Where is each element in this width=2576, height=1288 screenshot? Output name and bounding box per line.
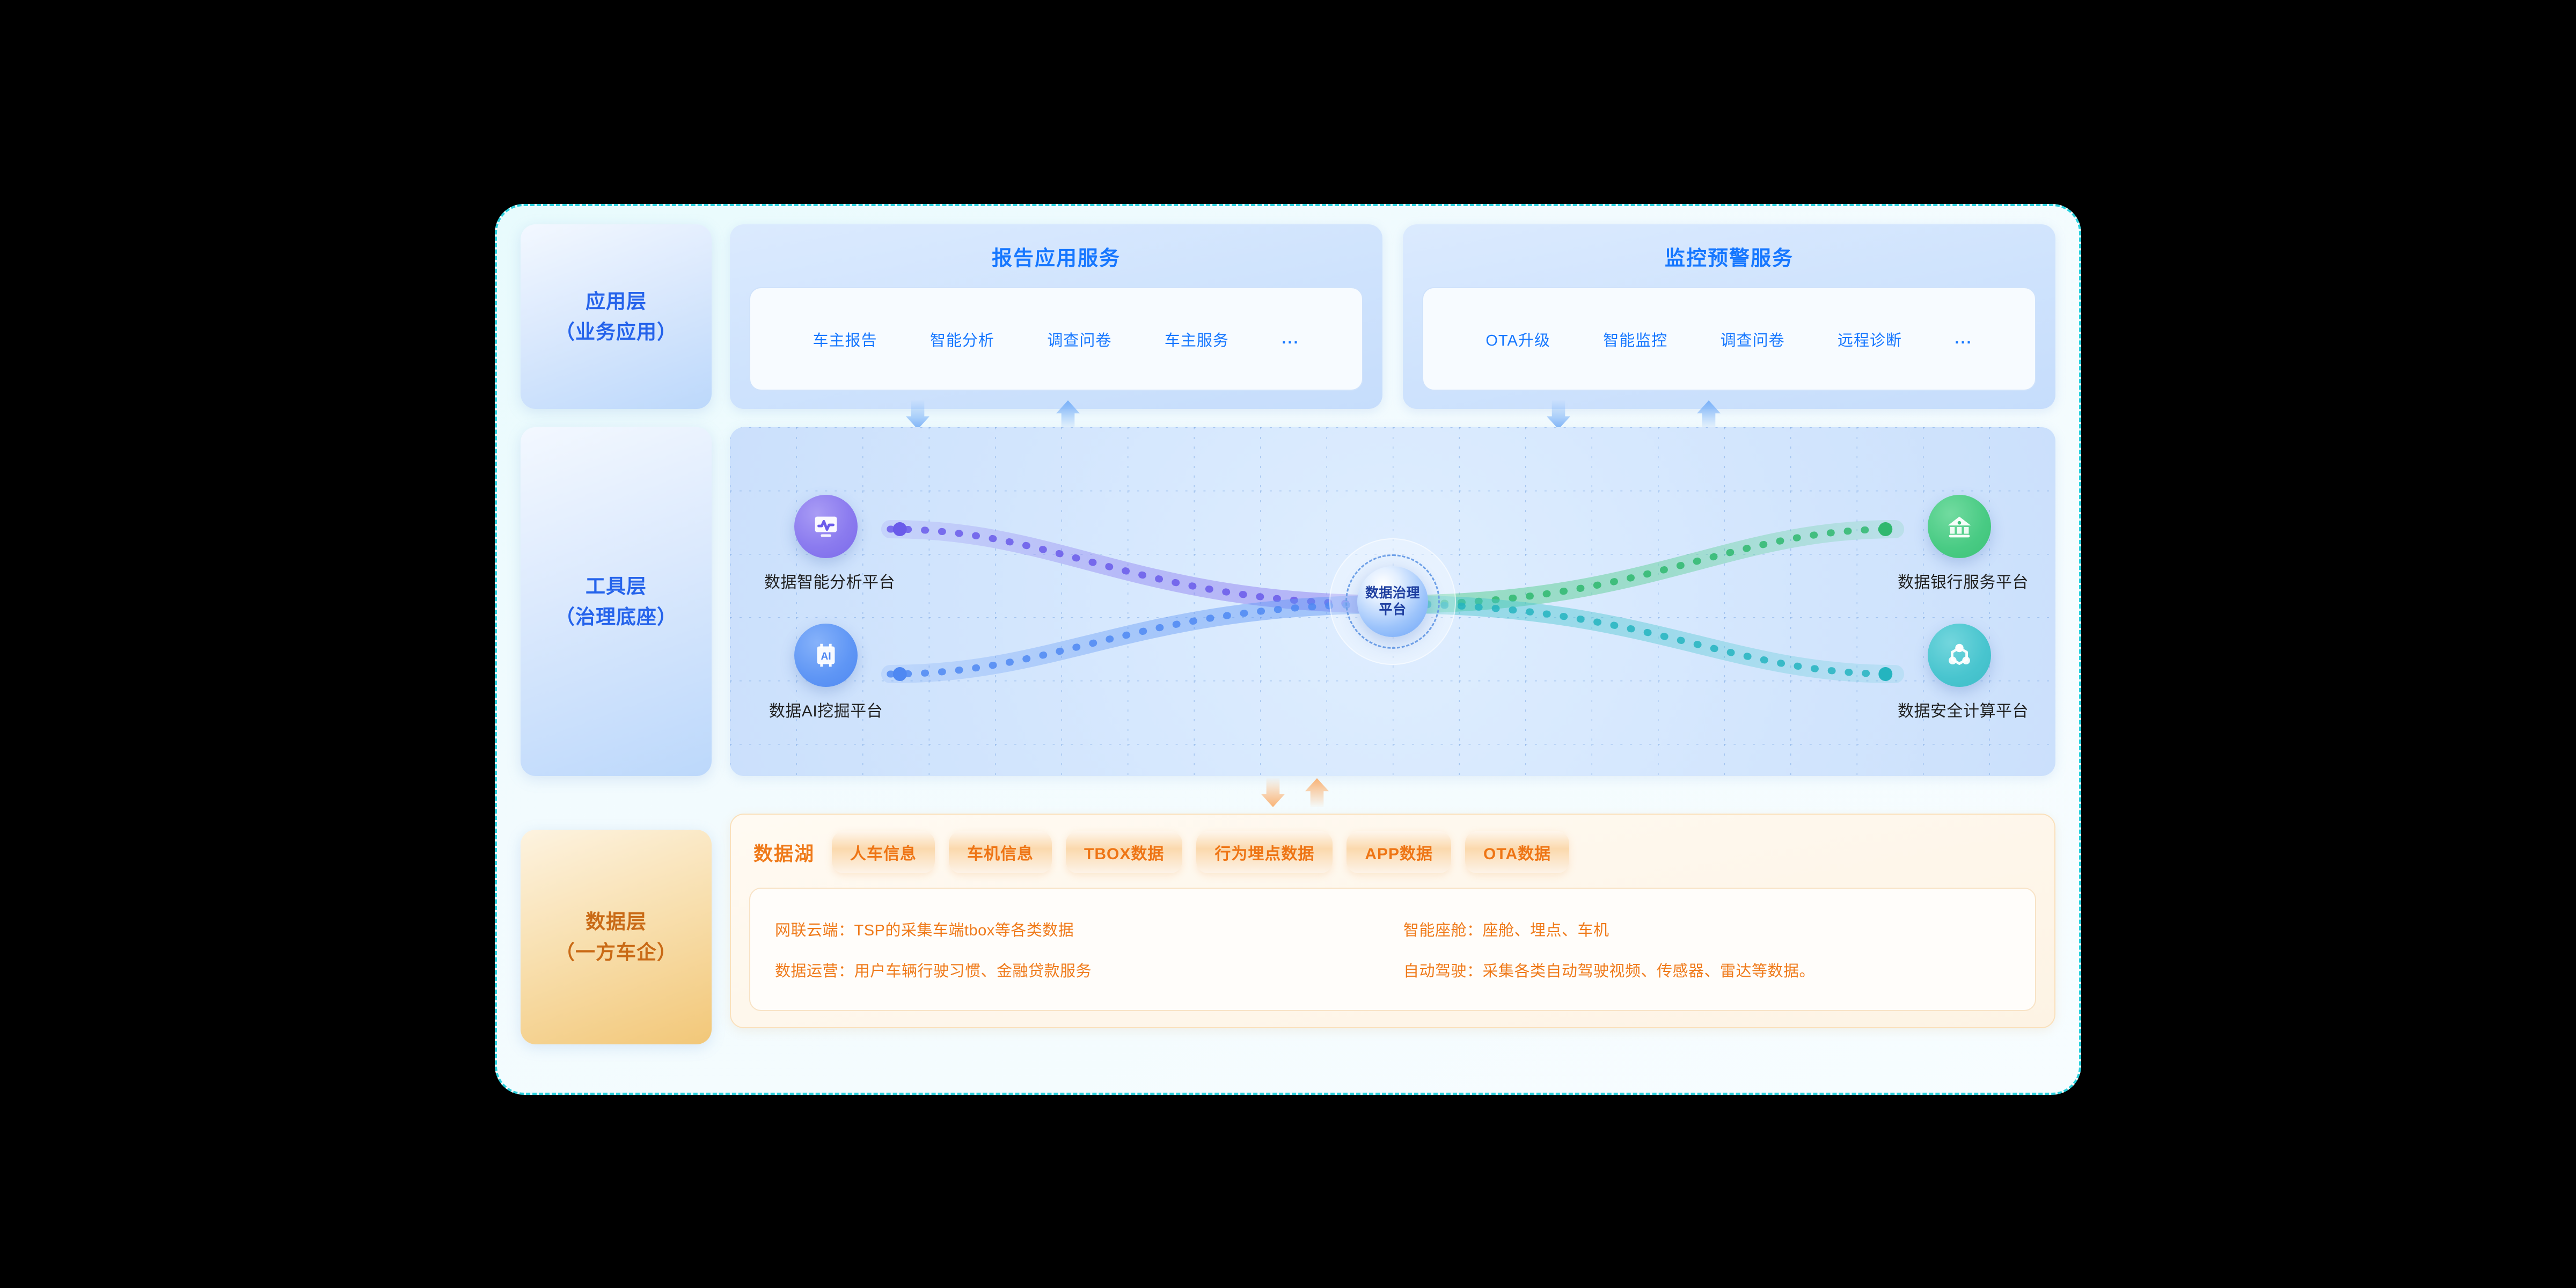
app-chip-smart-monitor[interactable]: 智能监控 — [1603, 328, 1667, 350]
note-smart-cockpit: 智能座舱：座舱、埋点、车机 — [1403, 918, 2010, 940]
lake-pill-ota[interactable]: OTA数据 — [1465, 831, 1569, 873]
node-data-security-platform[interactable]: 数据安全计算平台 — [1898, 624, 2021, 721]
svg-text:AI: AI — [821, 650, 831, 662]
arrow-down-icon-data — [1261, 778, 1285, 807]
note-autonomous-driving: 自动驾驶：采集各类自动驾驶视频、传感器、雷达等数据。 — [1403, 958, 2010, 981]
node-label-ai: 数据AI挖掘平台 — [764, 698, 888, 721]
layer-data-subtitle: （一方车企） — [555, 937, 677, 968]
note-data-operations: 数据运营：用户车辆行驶习惯、金融贷款服务 — [775, 958, 1382, 981]
layer-tool-subtitle: （治理底座） — [555, 602, 677, 632]
data-lake-title: 数据湖 — [753, 838, 815, 866]
app-chip-strip-monitor: OTA升级 智能监控 调查问卷 远程诊断 ... — [1422, 287, 2036, 391]
layer-rail: 应用层 （业务应用） 工具层 （治理底座） 数据层 （一方车企） — [521, 224, 712, 1071]
layer-tool-title: 工具层 — [555, 571, 677, 602]
app-chip-smart-analysis[interactable]: 智能分析 — [930, 328, 994, 350]
node-label-bank: 数据银行服务平台 — [1898, 569, 2021, 592]
layer-application-title: 应用层 — [555, 286, 677, 317]
monitor-waveform-icon — [794, 495, 858, 558]
lake-pill-tbox[interactable]: TBOX数据 — [1066, 831, 1182, 873]
app-chip-survey-2[interactable]: 调查问卷 — [1721, 328, 1785, 350]
node-data-bank-platform[interactable]: 数据银行服务平台 — [1898, 495, 2021, 592]
node-label-analysis: 数据智能分析平台 — [764, 569, 888, 592]
app-chip-owner-service[interactable]: 车主服务 — [1165, 328, 1229, 350]
data-lake-row: 数据湖 人车信息 车机信息 TBOX数据 行为埋点数据 APP数据 OTA数据 — [749, 830, 2036, 875]
layer-card-application: 应用层 （业务应用） — [521, 224, 712, 409]
hub-label-line1: 数据治理 — [1365, 585, 1420, 602]
app-chip-owner-report[interactable]: 车主报告 — [813, 328, 877, 350]
layer-application-subtitle: （业务应用） — [555, 317, 677, 347]
lake-pill-vehicle-machine[interactable]: 车机信息 — [949, 831, 1052, 873]
node-label-security: 数据安全计算平台 — [1898, 698, 2021, 721]
app-chip-more-monitor[interactable]: ... — [1955, 330, 1972, 348]
layer-card-tool: 工具层 （治理底座） — [521, 427, 712, 776]
data-layer: 数据湖 人车信息 车机信息 TBOX数据 行为埋点数据 APP数据 OTA数据 … — [730, 814, 2055, 1028]
app-chip-more-report[interactable]: ... — [1282, 330, 1299, 348]
app-card-report-title: 报告应用服务 — [992, 241, 1121, 271]
architecture-diagram: 应用层 （业务应用） 工具层 （治理底座） 数据层 （一方车企） 报告应用服务 … — [495, 204, 2081, 1095]
hub-governance-platform[interactable]: 数据治理 平台 — [1362, 570, 1424, 633]
hub-core: 数据治理 平台 — [1357, 566, 1428, 637]
content-column: 报告应用服务 车主报告 智能分析 调查问卷 车主服务 ... 监控预警服务 OT… — [730, 224, 2055, 1071]
secure-network-icon — [1928, 624, 1991, 687]
ai-chip-icon: AI — [794, 624, 858, 687]
layer-data-title: 数据层 — [555, 906, 677, 937]
node-data-ai-mining-platform[interactable]: AI 数据AI挖掘平台 — [764, 624, 888, 721]
app-chip-remote-diagnosis[interactable]: 远程诊断 — [1838, 328, 1902, 350]
lake-pill-behavior-tracking[interactable]: 行为埋点数据 — [1196, 831, 1333, 873]
app-card-report-service[interactable]: 报告应用服务 车主报告 智能分析 调查问卷 车主服务 ... — [730, 224, 1382, 409]
tool-layer: 数据治理 平台 数据智能分析平台 — [730, 427, 2055, 776]
lake-pill-person-vehicle[interactable]: 人车信息 — [832, 831, 935, 873]
app-card-monitor-service[interactable]: 监控预警服务 OTA升级 智能监控 调查问卷 远程诊断 ... — [1403, 224, 2055, 409]
app-chip-ota-upgrade[interactable]: OTA升级 — [1485, 328, 1550, 350]
arrow-band-app-tool — [730, 409, 2055, 427]
data-notes-box: 网联云端：TSP的采集车端tbox等各类数据 智能座舱：座舱、埋点、车机 数据运… — [749, 888, 2036, 1011]
app-chip-strip-report: 车主报告 智能分析 调查问卷 车主服务 ... — [749, 287, 1363, 391]
application-layer: 报告应用服务 车主报告 智能分析 调查问卷 车主服务 ... 监控预警服务 OT… — [730, 224, 2055, 409]
arrow-up-icon-data — [1305, 778, 1329, 807]
bank-building-icon — [1928, 495, 1991, 558]
lake-pill-app[interactable]: APP数据 — [1346, 831, 1451, 873]
hub-label-line2: 平台 — [1365, 602, 1420, 618]
layer-card-data: 数据层 （一方车企） — [521, 830, 712, 1044]
app-card-monitor-title: 监控预警服务 — [1665, 241, 1794, 271]
note-cloud-connected: 网联云端：TSP的采集车端tbox等各类数据 — [775, 918, 1382, 940]
app-chip-survey[interactable]: 调查问卷 — [1047, 328, 1111, 350]
arrow-band-tool-data — [730, 776, 2055, 814]
node-data-analysis-platform[interactable]: 数据智能分析平台 — [764, 495, 888, 592]
